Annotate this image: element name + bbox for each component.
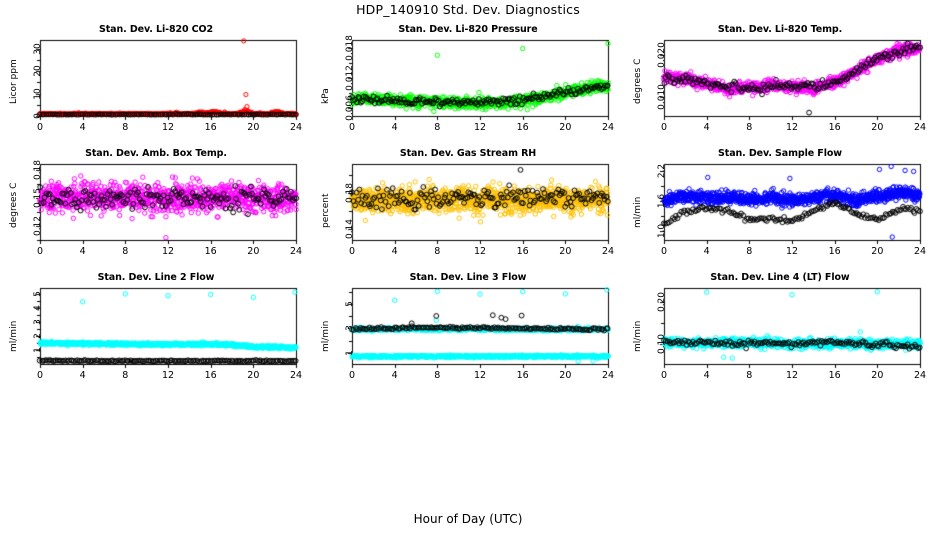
y-tick-label: 0.020 [657,39,667,71]
y-tick-label: 0.10 [657,328,667,360]
x-tick-label: 16 [819,122,851,133]
x-tick-label: 4 [379,370,411,381]
x-tick-label: 20 [549,246,581,257]
y-tick-label: 0.006 [345,92,355,124]
x-tick-label: 16 [195,370,227,381]
x-tick-label: 4 [379,122,411,133]
x-tick-label: 4 [691,246,723,257]
x-tick-label: 24 [904,122,936,133]
panel-ylabel: percent [321,194,331,228]
y-tick-label: 2.2 [657,155,667,187]
x-tick-label: 16 [507,370,539,381]
y-tick-label: 1.6 [657,185,667,217]
plot-panel-9: Stan. Dev. Line 4 (LT) Flow048121620240.… [624,270,936,394]
x-tick-label: 12 [152,370,184,381]
x-tick-label: 16 [507,122,539,133]
x-tick-label: 8 [421,370,453,381]
plot-panel-6: Stan. Dev. Sample Flow048121620241.01.62… [624,146,936,270]
y-tick-label: 1.0 [657,215,667,247]
panel-ylabel: degrees C [9,183,19,228]
x-tick-label: 4 [379,246,411,257]
x-tick-label: 20 [237,246,269,257]
x-tick-label: 12 [464,122,496,133]
x-tick-label: 4 [691,122,723,133]
y-tick-label: 30 [33,33,43,65]
panel-ylabel: ml/min [633,197,643,228]
plot-panel-1: Stan. Dev. Li-820 CO2048121620240102030L… [0,22,312,146]
x-tick-label: 0 [648,246,680,257]
y-tick-label: 0.15 [33,182,43,214]
x-tick-label: 8 [733,370,765,381]
y-tick-label: 0.010 [657,81,667,113]
x-tick-label: 24 [592,370,624,381]
x-tick-label: 20 [237,122,269,133]
x-tick-label: 8 [109,246,141,257]
x-tick-label: 24 [280,122,312,133]
panel-ylabel: Licor ppm [9,59,19,104]
y-tick-label: 0.018 [345,32,355,64]
y-tick-label: 5 [345,288,355,320]
x-tick-label: 0 [24,370,56,381]
x-tick-label: 20 [861,246,893,257]
x-tick-label: 4 [67,370,99,381]
page-title: HDP_140910 Std. Dev. Diagnostics [0,2,936,17]
x-tick-label: 4 [691,370,723,381]
plot-panel-2: Stan. Dev. Li-820 Pressure048121620240.0… [312,22,624,146]
x-tick-label: 8 [733,122,765,133]
panel-ylabel: ml/min [321,321,331,352]
x-tick-label: 20 [549,370,581,381]
panel-ylabel: ml/min [9,321,19,352]
x-tick-label: 16 [819,370,851,381]
x-tick-label: 4 [67,122,99,133]
y-tick-label: 0.18 [345,177,355,209]
x-tick-label: 20 [861,370,893,381]
plot-panel-8: Stan. Dev. Line 3 Flow04812162024135ml/m… [312,270,624,394]
x-tick-label: 24 [904,246,936,257]
y-tick-label: 5 [33,278,43,310]
x-tick-label: 8 [109,122,141,133]
x-tick-label: 12 [464,370,496,381]
panel-ylabel: ml/min [633,321,643,352]
x-tick-label: 16 [195,122,227,133]
x-tick-label: 8 [421,122,453,133]
plot-panel-7: Stan. Dev. Line 2 Flow0481216202412345ml… [0,270,312,394]
x-tick-label: 8 [733,246,765,257]
panel-ylabel: degrees C [633,59,643,104]
y-tick-label: 0.14 [345,213,355,245]
x-tick-label: 20 [549,122,581,133]
x-tick-label: 4 [67,246,99,257]
x-tick-label: 16 [507,246,539,257]
x-tick-label: 12 [776,246,808,257]
x-tick-label: 12 [152,246,184,257]
plot-panel-5: Stan. Dev. Gas Stream RH048121620240.140… [312,146,624,270]
x-tick-label: 12 [776,370,808,381]
x-tick-label: 0 [336,246,368,257]
x-tick-label: 24 [592,246,624,257]
x-tick-label: 0 [648,370,680,381]
plot-grid: Stan. Dev. Li-820 CO2048121620240102030L… [0,22,936,394]
x-tick-label: 8 [421,246,453,257]
x-tick-label: 12 [152,122,184,133]
y-tick-label: 0.012 [345,62,355,94]
x-tick-label: 12 [464,246,496,257]
x-tick-label: 24 [280,370,312,381]
figure-xaxis-label: Hour of Day (UTC) [0,512,936,526]
x-tick-label: 24 [904,370,936,381]
x-tick-label: 24 [592,122,624,133]
x-tick-label: 12 [776,122,808,133]
x-tick-label: 20 [861,122,893,133]
panel-ylabel: kPa [321,88,331,104]
x-tick-label: 24 [280,246,312,257]
x-tick-label: 0 [24,246,56,257]
y-tick-label: 0.18 [33,154,43,186]
x-tick-label: 20 [237,370,269,381]
plot-panel-4: Stan. Dev. Amb. Box Temp.048121620240.12… [0,146,312,270]
plot-panel-3: Stan. Dev. Li-820 Temp.048121620240.0100… [624,22,936,146]
x-tick-label: 0 [336,370,368,381]
y-tick-label: 0.20 [657,286,667,318]
x-tick-label: 16 [819,246,851,257]
x-tick-label: 8 [109,370,141,381]
x-tick-label: 0 [648,122,680,133]
y-tick-label: 0.12 [33,210,43,242]
x-tick-label: 16 [195,246,227,257]
